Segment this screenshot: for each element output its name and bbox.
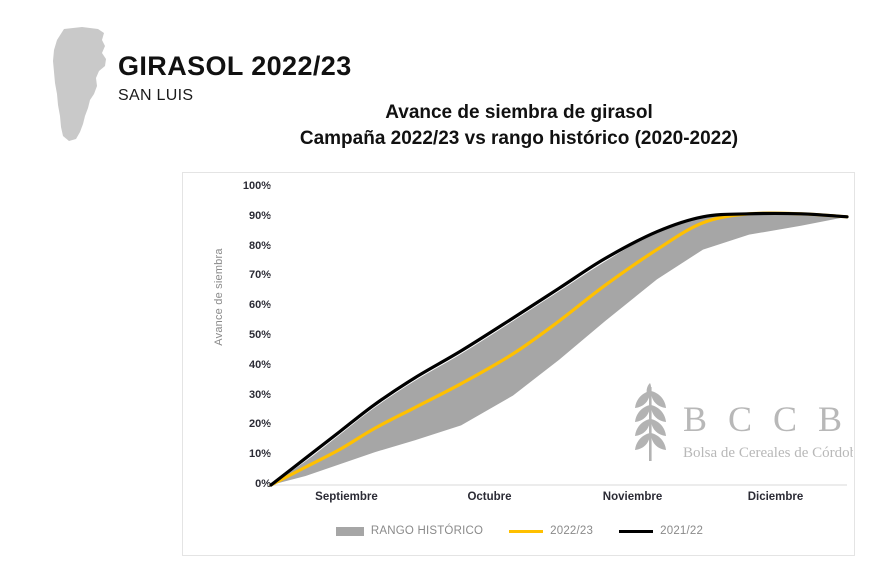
legend-label: RANGO HISTÓRICO [371,525,483,537]
x-axis-tick-label: Septiembre [275,491,418,513]
chart-title-line-2: Campaña 2022/23 vs rango histórico (2020… [182,126,856,152]
legend-line-swatch [619,530,653,533]
x-axis-tick-label: Octubre [418,491,561,513]
x-axis-tick-labels: SeptiembreOctubreNoviembreDiciembre [275,491,847,513]
x-axis-tick-label: Noviembre [561,491,704,513]
chart-title-line-1: Avance de siembra de girasol [182,100,856,126]
x-axis-tick-label: Diciembre [704,491,847,513]
legend-band-swatch [336,527,364,536]
legend-label: 2021/22 [660,525,703,537]
legend-line-swatch [509,530,543,533]
san-luis-province-silhouette-icon [52,26,118,143]
chart-container: Avance de siembra 0%10%20%30%40%50%60%70… [182,172,855,556]
crop-title: GIRASOL 2022/23 [118,52,352,80]
header-title-group: GIRASOL 2022/23 SAN LUIS [118,52,352,105]
chart-legend: RANGO HISTÓRICO2022/232021/22 [183,525,856,537]
legend-item[interactable]: RANGO HISTÓRICO [336,525,483,537]
legend-item[interactable]: 2021/22 [619,525,703,537]
legend-item[interactable]: 2022/23 [509,525,593,537]
chart-title: Avance de siembra de girasol Campaña 202… [182,100,856,151]
legend-label: 2022/23 [550,525,593,537]
